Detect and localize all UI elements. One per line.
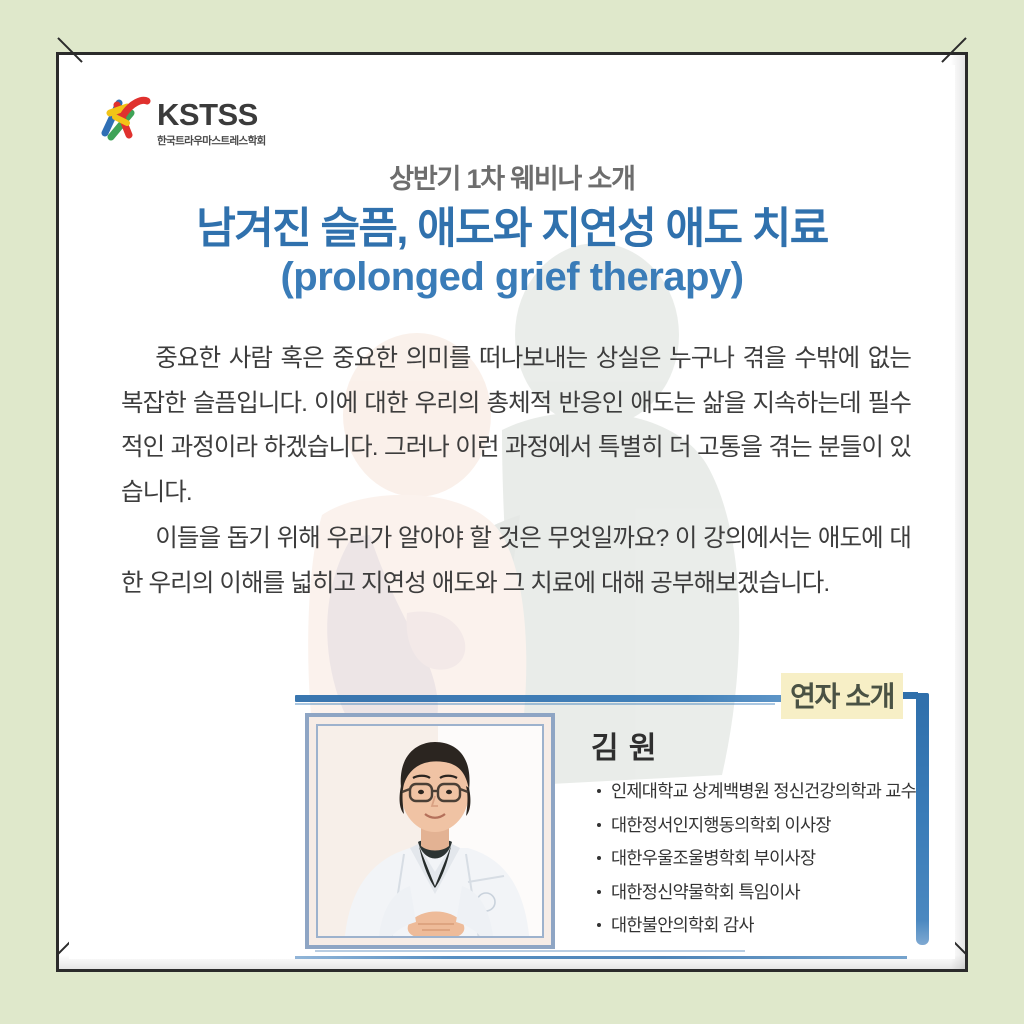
speaker-section-badge-label: 연자 소개: [790, 681, 894, 712]
poster-title-line1: 남겨진 슬픔, 애도와 지연성 애도 치료: [69, 205, 955, 253]
kstss-logo: KSTSS 한국트라우마스트레스학회: [97, 93, 266, 148]
speaker-panel-bottom-rule: [295, 956, 907, 959]
poster-page: KSTSS 한국트라우마스트레스학회 상반기 1차 웨비나 소개 남겨진 슬픔,…: [69, 65, 955, 959]
poster-kicker: 상반기 1차 웨비나 소개: [69, 157, 955, 196]
speaker-credentials-list: 인제대학교 상계백병원 정신건강의학과 교수 대한정서인지행동의학회 이사장 대…: [597, 775, 885, 943]
body-paragraph-2: 이들을 돕기 위해 우리가 알아야 할 것은 무엇일까요? 이 강의에서는 애도…: [121, 517, 911, 606]
body-paragraph-1: 중요한 사람 혹은 중요한 의미를 떠나보내는 상실은 누구나 겪을 수밖에 없…: [121, 337, 911, 515]
kstss-logo-mark-icon: [97, 93, 151, 147]
speaker-panel-right-rule: [916, 693, 929, 945]
speaker-panel: 연자 소개: [295, 683, 931, 959]
list-item: 인제대학교 상계백병원 정신건강의학과 교수: [597, 775, 885, 809]
list-item: 대한우울조울병학회 부이사장: [597, 842, 885, 876]
speaker-name: 김 원: [591, 723, 658, 767]
list-item: 대한불안의학회 감사: [597, 909, 885, 943]
logo-subtitle: 한국트라우마스트레스학회: [157, 133, 266, 148]
speaker-portrait: [316, 724, 544, 938]
poster-frame: KSTSS 한국트라우마스트레스학회 상반기 1차 웨비나 소개 남겨진 슬픔,…: [56, 52, 968, 972]
list-item: 대한정서인지행동의학회 이사장: [597, 809, 885, 843]
poster-body: 중요한 사람 혹은 중요한 의미를 떠나보내는 상실은 누구나 겪을 수밖에 없…: [121, 337, 911, 606]
speaker-section-badge: 연자 소개: [781, 673, 903, 719]
poster-canvas: KSTSS 한국트라우마스트레스학회 상반기 1차 웨비나 소개 남겨진 슬픔,…: [0, 0, 1024, 1024]
poster-title-line2: (prolonged grief therapy): [69, 255, 955, 300]
logo-wordmark: KSTSS: [157, 99, 266, 130]
list-item: 대한정신약물학회 특임이사: [597, 876, 885, 910]
speaker-panel-top-rule: [295, 695, 855, 702]
speaker-photo-frame: [305, 713, 555, 949]
